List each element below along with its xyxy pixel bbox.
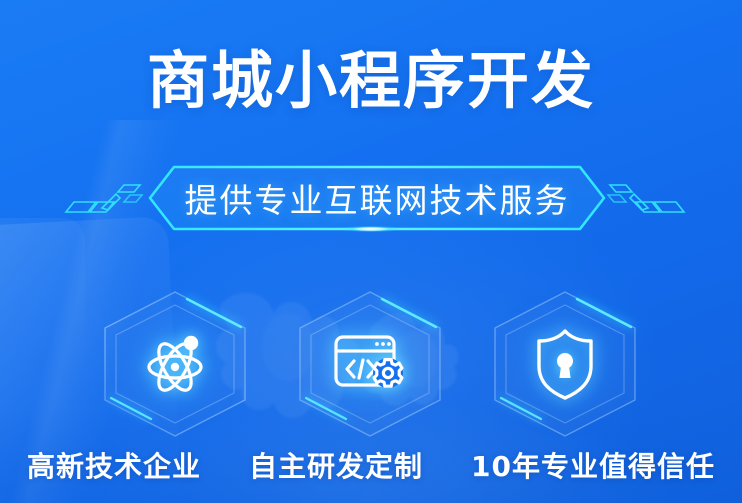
banner-title: 商城小程序开发 (0, 50, 742, 112)
shield-lock-icon (485, 288, 645, 440)
speed-lines-right-icon (582, 174, 692, 226)
feature-label-1: 高新技术企业 (27, 445, 201, 485)
feature-label-2: 自主研发定制 (249, 445, 423, 485)
feature-item-1 (95, 288, 255, 440)
feature-item-2 (290, 288, 450, 440)
feature-label-3: 10年专业值得信任 (471, 445, 715, 485)
atom-icon (95, 288, 255, 440)
feature-hexagon-row (0, 288, 742, 440)
code-window-gear-icon (290, 288, 450, 440)
promo-banner: 商城小程序开发 (0, 0, 742, 503)
feature-item-3 (485, 288, 645, 440)
subtitle-banner: 提供专业互联网技术服务 (0, 160, 742, 244)
feature-labels: 高新技术企业 自主研发定制 10年专业值得信任 (0, 440, 742, 490)
subtitle-flare-core (346, 224, 396, 234)
